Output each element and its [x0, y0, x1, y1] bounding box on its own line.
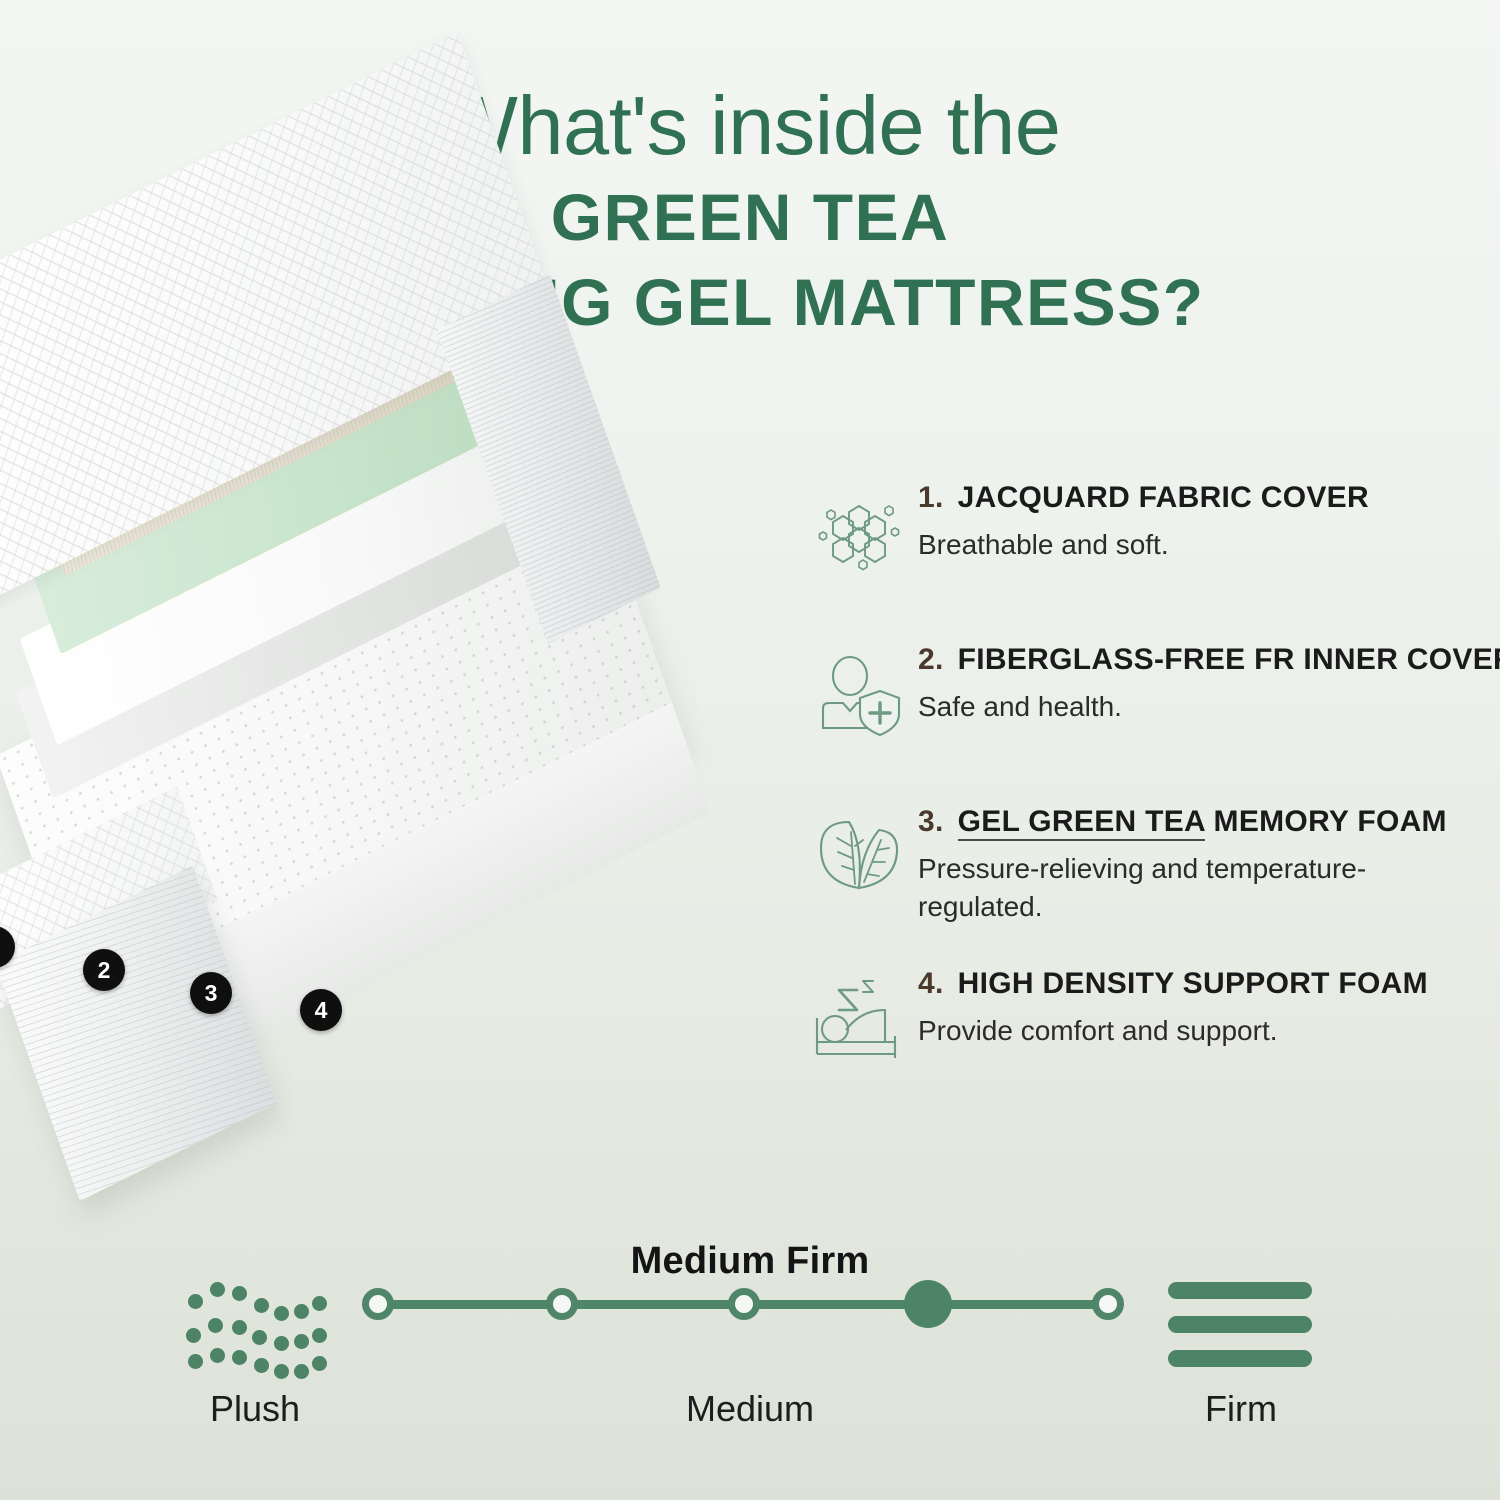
mattress-cutaway-illustration: 1 2 3 4 [0, 352, 820, 1212]
feature-title-text: JACQUARD FABRIC COVER [958, 481, 1369, 514]
firmness-label-firm: Firm [1158, 1388, 1324, 1430]
feature-description: Breathable and soft. [918, 526, 1438, 564]
feature-item-high-density-support-foam: 4.HIGH DENSITY SUPPORT FOAM Provide comf… [800, 962, 1490, 1090]
infographic-page: What's inside the GREEN TEA COOLING GEL … [0, 0, 1500, 1500]
feature-description: Provide comfort and support. [918, 1012, 1438, 1050]
callout-badge-2: 2 [83, 949, 125, 991]
feature-title: 4.HIGH DENSITY SUPPORT FOAM [918, 966, 1490, 1002]
feature-title-text: FIBERGLASS-FREE FR INNER COVER [958, 643, 1500, 676]
feature-item-fiberglass-free-fr-inner-cover: 2.FIBERGLASS-FREE FR INNER COVER Safe an… [800, 638, 1490, 766]
leaves-icon [800, 800, 918, 910]
person-shield-icon [800, 638, 918, 748]
firmness-node-3[interactable] [728, 1288, 760, 1320]
firmness-node-5[interactable] [1092, 1288, 1124, 1320]
honeycomb-icon [800, 476, 918, 586]
firmness-label-plush: Plush [170, 1388, 340, 1430]
firmness-node-4-selected[interactable] [904, 1280, 952, 1328]
feature-title-highlight: GEL GREEN TEA [958, 805, 1205, 841]
feature-title-text: HIGH DENSITY SUPPORT FOAM [958, 967, 1428, 1000]
feature-list: 1.JACQUARD FABRIC COVER Breathable and s… [800, 476, 1490, 1124]
feature-title-text: MEMORY FOAM [1205, 805, 1447, 838]
callout-badge-4: 4 [300, 989, 342, 1031]
firmness-label-medium: Medium [650, 1388, 850, 1430]
feature-item-gel-green-tea-memory-foam: 3.GEL GREEN TEA MEMORY FOAM Pressure-rel… [800, 800, 1490, 928]
feature-title: 1.JACQUARD FABRIC COVER [918, 480, 1490, 516]
firmness-node-2[interactable] [546, 1288, 578, 1320]
callout-badge-3: 3 [190, 972, 232, 1014]
stacked-bars-icon [1168, 1282, 1312, 1378]
feature-description: Safe and health. [918, 688, 1438, 726]
firmness-node-1[interactable] [362, 1288, 394, 1320]
feature-title: 2.FIBERGLASS-FREE FR INNER COVER [918, 642, 1500, 678]
feature-item-jacquard-fabric-cover: 1.JACQUARD FABRIC COVER Breathable and s… [800, 476, 1490, 604]
dot-grid-icon [186, 1272, 318, 1384]
feature-number: 4. [918, 967, 944, 1000]
sleeping-person-icon [800, 962, 918, 1072]
feature-number: 3. [918, 805, 944, 838]
feature-number: 1. [918, 481, 944, 514]
mattress-layer-stack [0, 162, 930, 1398]
feature-description: Pressure-relieving and temperature-regul… [918, 850, 1438, 926]
feature-title: 3.GEL GREEN TEA MEMORY FOAM [918, 804, 1490, 840]
feature-number: 2. [918, 643, 944, 676]
